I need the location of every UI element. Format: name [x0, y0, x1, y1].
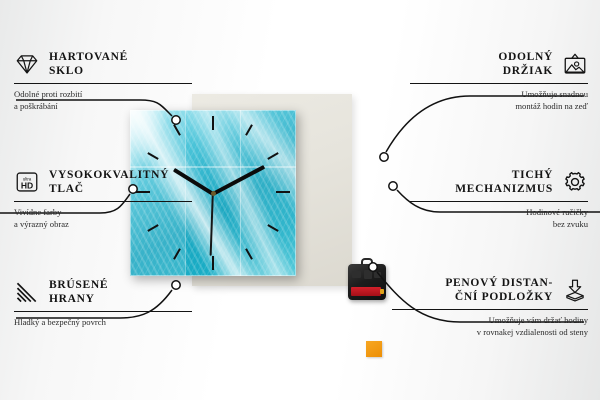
- infographic-stage: HARTOVANÉ SKLO Odolné proti rozbití a po…: [0, 0, 600, 400]
- feature-tempered-glass[interactable]: HARTOVANÉ SKLO Odolné proti rozbití a po…: [14, 50, 192, 112]
- feature-divider: [392, 309, 588, 310]
- foam-spacer-pad: [366, 341, 382, 357]
- feature-title-line1: PENOVÝ DISTAN-: [445, 277, 553, 289]
- mechanism-hanger-loop: [361, 258, 373, 265]
- feature-title-line1: VYSOKOKVALITNÝ: [49, 169, 169, 181]
- feature-polished-edges[interactable]: BRÚSENÉ HRANY Hladký a bezpečný povrch: [14, 278, 192, 329]
- feature-desc-line2: v rovnakej vzdialenosti od steny: [477, 327, 588, 337]
- feature-desc-line2: a poškrábání: [14, 101, 58, 111]
- feature-title-line2: DRŽIAK: [503, 65, 553, 77]
- feature-desc-line2: a výrazný obraz: [14, 219, 69, 229]
- feature-description: Umožňuje snadnou montáž hodin na zeď: [410, 89, 588, 112]
- feature-description: Hladký a bezpečný povrch: [14, 317, 192, 328]
- clock-center-cap: [211, 191, 216, 196]
- diamond-icon: [14, 52, 40, 76]
- feature-title-line1: ODOLNÝ: [498, 51, 553, 63]
- feature-title: HARTOVANÉ SKLO: [49, 50, 128, 78]
- feature-divider: [410, 83, 588, 84]
- feature-header: HARTOVANÉ SKLO: [14, 50, 192, 78]
- beveled-edges-icon: [14, 280, 40, 304]
- feature-description: Vivídne farby a výrazný obraz: [14, 207, 192, 230]
- feature-header: ODOLNÝ DRŽIAK: [410, 50, 588, 78]
- feature-desc-line1: Umožňuje vám držať hodiny: [489, 315, 588, 325]
- feature-durable-holder[interactable]: ODOLNÝ DRŽIAK Umožňuje snadnou montáž ho…: [410, 50, 588, 112]
- feature-header: TICHÝ MECHANIZMUS: [410, 168, 588, 196]
- feature-foam-spacers[interactable]: PENOVÝ DISTAN- ČNÍ PODLOŽKY Umožňuje vám…: [392, 276, 588, 338]
- feature-divider: [14, 311, 192, 312]
- feature-title-line1: TICHÝ: [512, 169, 553, 181]
- feature-title-line1: BRÚSENÉ: [49, 279, 108, 291]
- feature-high-quality-print[interactable]: ultra HD VYSOKOKVALITNÝ TLAČ Vivídne far…: [14, 168, 192, 230]
- feature-title-line2: HRANY: [49, 293, 95, 305]
- feature-title-line2: ČNÍ PODLOŽKY: [455, 291, 553, 303]
- feature-title: PENOVÝ DISTAN- ČNÍ PODLOŽKY: [445, 276, 553, 304]
- feature-desc-line2: bez zvuku: [553, 219, 588, 229]
- feature-header: BRÚSENÉ HRANY: [14, 278, 192, 306]
- mechanism-detail: [364, 270, 372, 279]
- feature-header: PENOVÝ DISTAN- ČNÍ PODLOŽKY: [392, 276, 588, 304]
- foam-spacer-icon: [562, 278, 588, 302]
- feature-divider: [14, 83, 192, 84]
- connector-dot-holder: [380, 153, 388, 161]
- feature-desc-line1: Umožňuje snadnou: [521, 89, 588, 99]
- mechanism-detail: [374, 272, 381, 278]
- feature-desc-line1: Hladký a bezpečný povrch: [14, 317, 106, 327]
- feature-desc-line1: Odolné proti rozbití: [14, 89, 82, 99]
- battery: [351, 287, 381, 296]
- feature-title: BRÚSENÉ HRANY: [49, 278, 108, 306]
- feature-description: Odolné proti rozbití a poškrábání: [14, 89, 192, 112]
- feature-title: VYSOKOKVALITNÝ TLAČ: [49, 168, 169, 196]
- gear-icon: [562, 170, 588, 194]
- feature-title: TICHÝ MECHANIZMUS: [455, 168, 553, 196]
- feature-description: Hodinové ručičky bez zvuku: [410, 207, 588, 230]
- feature-divider: [14, 201, 192, 202]
- feature-title: ODOLNÝ DRŽIAK: [498, 50, 553, 78]
- feature-title-line2: TLAČ: [49, 183, 84, 195]
- ultra-hd-icon: ultra HD: [14, 170, 40, 194]
- feature-desc-line1: Vivídne farby: [14, 207, 61, 217]
- connector-dot-mechanism: [389, 182, 397, 190]
- mechanism-detail: [352, 271, 361, 278]
- clock-mechanism: [348, 264, 386, 300]
- feature-title-line1: HARTOVANÉ: [49, 51, 128, 63]
- feature-desc-line1: Hodinové ručičky: [526, 207, 588, 217]
- feature-title-line2: SKLO: [49, 65, 84, 77]
- feature-desc-line2: montáž hodin na zeď: [515, 101, 588, 111]
- feature-divider: [410, 201, 588, 202]
- feature-header: ultra HD VYSOKOKVALITNÝ TLAČ: [14, 168, 192, 196]
- feature-title-line2: MECHANIZMUS: [455, 183, 553, 195]
- feature-silent-mechanism[interactable]: TICHÝ MECHANIZMUS Hodinové ručičky bez z…: [410, 168, 588, 230]
- picture-hanger-icon: [562, 52, 588, 76]
- feature-description: Umožňuje vám držať hodiny v rovnakej vzd…: [392, 315, 588, 338]
- svg-text:HD: HD: [21, 181, 33, 191]
